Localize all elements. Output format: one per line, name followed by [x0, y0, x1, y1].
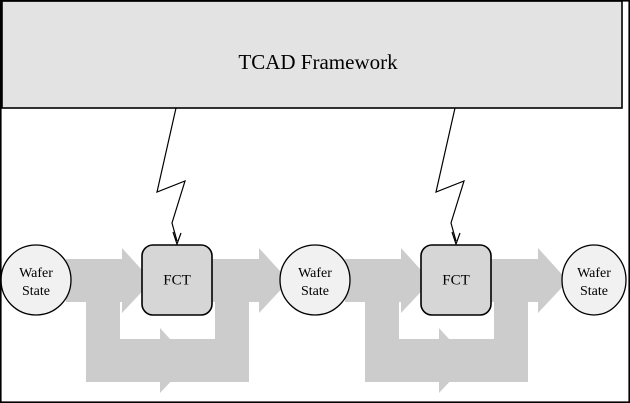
- banner-title: TCAD Framework: [238, 50, 398, 74]
- tcad-framework-diagram: TCAD Framework Wafer State Wafer State W…: [0, 0, 630, 403]
- wafer-state-label-2-line2: State: [301, 284, 329, 299]
- wafer-state-node-1: Wafer State: [1, 245, 71, 315]
- fct-node-2: FCT: [421, 245, 491, 315]
- bolt-connector-2: [436, 108, 464, 241]
- wafer-state-label-1-line2: State: [22, 284, 50, 299]
- fct-label-2: FCT: [442, 272, 470, 288]
- fct-node-1: FCT: [142, 245, 212, 315]
- wafer-state-node-3: Wafer State: [562, 245, 626, 315]
- connectors-layer: [157, 108, 464, 244]
- fct-label-1: FCT: [163, 272, 191, 288]
- wafer-state-node-2: Wafer State: [280, 245, 350, 315]
- wafer-state-label-3-line1: Wafer: [577, 266, 611, 281]
- bolt-connector-2-arrowhead: [452, 232, 460, 244]
- bolt-connector-1: [157, 108, 185, 241]
- wafer-state-label-2-line1: Wafer: [298, 266, 332, 281]
- diagram-canvas: TCAD Framework Wafer State Wafer State W…: [0, 0, 630, 403]
- wafer-state-label-3-line2: State: [580, 284, 608, 299]
- wafer-state-label-1-line1: Wafer: [19, 266, 53, 281]
- bypass-loop-2-bottom-bar-right: [449, 339, 528, 382]
- bolt-connector-1-arrowhead: [173, 232, 181, 244]
- bypass-loop-1-bottom-bar-right: [170, 339, 249, 382]
- tcad-framework-banner: TCAD Framework: [2, 1, 622, 108]
